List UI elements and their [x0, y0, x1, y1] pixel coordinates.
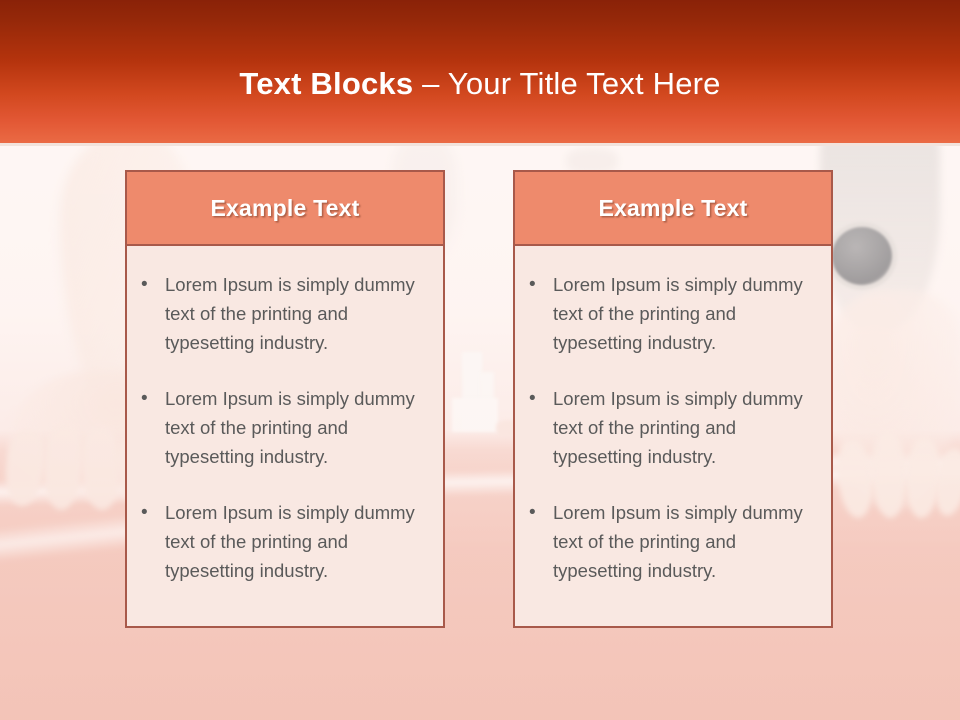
bullet-icon: •: [139, 384, 165, 471]
list-item-text: Lorem Ipsum is simply dummy text of the …: [553, 384, 817, 471]
list-item-text: Lorem Ipsum is simply dummy text of the …: [165, 270, 429, 357]
bullet-icon: •: [527, 270, 553, 357]
text-block-right-heading: Example Text: [599, 195, 748, 222]
bullet-icon: •: [527, 498, 553, 585]
list-item-text: Lorem Ipsum is simply dummy text of the …: [553, 270, 817, 357]
title-banner-underline: [0, 143, 960, 146]
text-block-left-body: • Lorem Ipsum is simply dummy text of th…: [127, 246, 443, 585]
bullet-icon: •: [139, 498, 165, 585]
list-item-text: Lorem Ipsum is simply dummy text of the …: [165, 384, 429, 471]
text-block-right-body: • Lorem Ipsum is simply dummy text of th…: [515, 246, 831, 585]
list-item: • Lorem Ipsum is simply dummy text of th…: [527, 270, 817, 357]
list-item: • Lorem Ipsum is simply dummy text of th…: [139, 384, 429, 471]
list-item: • Lorem Ipsum is simply dummy text of th…: [527, 384, 817, 471]
list-item: • Lorem Ipsum is simply dummy text of th…: [527, 498, 817, 585]
text-block-right-header: Example Text: [515, 172, 831, 246]
list-item: • Lorem Ipsum is simply dummy text of th…: [139, 498, 429, 585]
text-block-right[interactable]: Example Text • Lorem Ipsum is simply dum…: [513, 170, 833, 628]
list-item-text: Lorem Ipsum is simply dummy text of the …: [553, 498, 817, 585]
bullet-icon: •: [139, 270, 165, 357]
title-banner: Text Blocks – Your Title Text Here: [0, 0, 960, 143]
text-block-left-header: Example Text: [127, 172, 443, 246]
slide: Text Blocks – Your Title Text Here Examp…: [0, 0, 960, 720]
page-title-bold: Text Blocks: [239, 66, 413, 101]
page-title: Text Blocks – Your Title Text Here: [239, 68, 720, 99]
page-title-regular: – Your Title Text Here: [413, 66, 720, 101]
text-block-left-heading: Example Text: [211, 195, 360, 222]
bullet-icon: •: [527, 384, 553, 471]
list-item: • Lorem Ipsum is simply dummy text of th…: [139, 270, 429, 357]
text-block-left[interactable]: Example Text • Lorem Ipsum is simply dum…: [125, 170, 445, 628]
list-item-text: Lorem Ipsum is simply dummy text of the …: [165, 498, 429, 585]
